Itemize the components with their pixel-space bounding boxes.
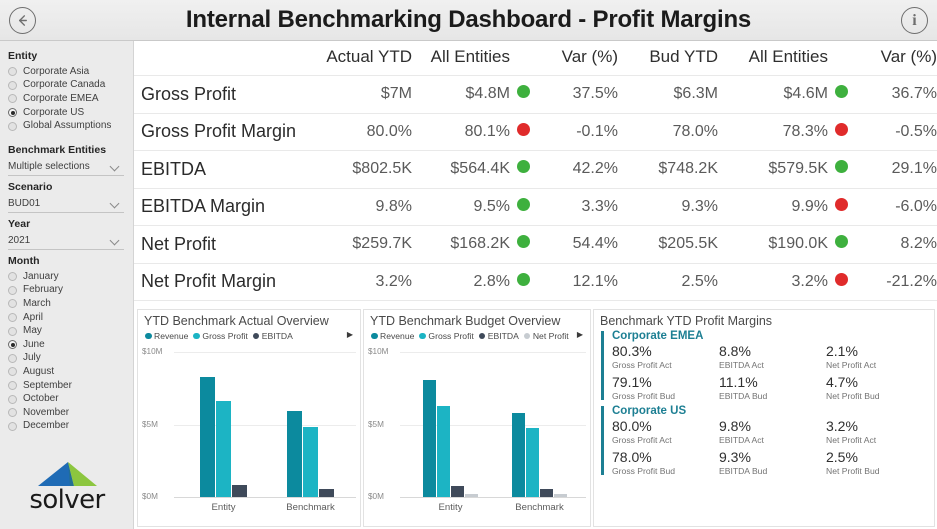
margins-metric-cell: 9.8%EBITDA Act [719,418,826,446]
radio-button-icon[interactable] [8,67,17,76]
cell-bud-ytd: $748.2K [618,151,718,189]
cell-bud-status [828,76,854,114]
radio-button-icon[interactable] [8,272,17,281]
radio-label: May [23,325,42,337]
legend-swatch-icon [371,333,378,340]
benchmark-profit-margins-panel: Benchmark YTD Profit Margins Corporate E… [593,309,935,527]
radio-button-icon[interactable] [8,381,17,390]
legend-swatch-icon [145,333,152,340]
title-bar: Internal Benchmarking Dashboard - Profit… [0,0,937,41]
margins-metric-caption: Net Profit Bud [826,465,933,477]
margins-metric-caption: EBITDA Act [719,434,826,446]
bar-entity-revenue[interactable] [423,380,436,497]
radio-label: February [23,284,63,296]
cell-actual-ytd: 80.0% [320,113,412,151]
margins-group-name: Corporate US [612,405,934,417]
entity-option-global-assumptions[interactable]: Global Assumptions [8,119,133,133]
cell-actual-ytd: $7M [320,76,412,114]
bar-entity-ebitda[interactable] [232,485,247,497]
cell-actual-all-entities: $564.4K [412,151,510,189]
table-row: EBITDA Margin9.8%9.5%3.3%9.3%9.9%-6.0% [134,188,937,226]
cell-bud-all-entities: $190.0K [718,226,828,264]
cell-bud-var: -6.0% [854,188,937,226]
page-title: Internal Benchmarking Dashboard - Profit… [186,6,751,34]
radio-label: November [23,407,69,419]
margins-metric-value: 79.1% [612,374,719,390]
info-icon[interactable]: i [901,7,928,34]
margins-metric-caption: Net Profit Act [826,434,933,446]
radio-label: January [23,271,59,283]
benchmark-entities-dropdown[interactable]: Multiple selections [8,159,124,176]
col-header-blank [134,41,320,76]
radio-label: Global Assumptions [23,120,111,132]
month-option-november[interactable]: November [8,406,133,420]
radio-label: September [23,380,72,392]
margins-metric-value: 9.8% [719,418,826,434]
kpi-table-body: Gross Profit$7M$4.8M37.5%$6.3M$4.6M36.7%… [134,76,937,301]
ytd-benchmark-actual-panel: YTD Benchmark Actual Overview RevenueGro… [137,309,361,527]
x-axis-line [174,497,356,498]
gridline [174,352,356,353]
chevron-down-icon [111,162,120,171]
margins-group: Corporate EMEA80.3%Gross Profit Act8.8%E… [601,330,934,402]
legend-item-revenue[interactable]: Revenue [371,331,414,341]
cell-bud-status [828,188,854,226]
month-section-label: Month [8,255,133,267]
radio-button-icon[interactable] [8,94,17,103]
radio-label: October [23,393,59,405]
x-axis-category-label: Benchmark [495,502,584,513]
margins-metric-caption: EBITDA Act [719,359,826,371]
margins-panel-title: Benchmark YTD Profit Margins [594,310,934,329]
table-row: Net Profit Margin3.2%2.8%12.1%2.5%3.2%-2… [134,263,937,301]
y-axis-tick-label: $0M [142,492,158,501]
status-indicator-dot-green [517,85,530,98]
month-option-april[interactable]: April [8,311,133,325]
cell-actual-ytd: 9.8% [320,188,412,226]
status-indicator-dot-green [517,235,530,248]
entity-option-corporate-us[interactable]: Corporate US [8,106,133,120]
margins-metric-caption: Gross Profit Act [612,434,719,446]
cell-actual-status [510,263,536,301]
legend-swatch-icon [253,333,260,340]
margins-groups: Corporate EMEA80.3%Gross Profit Act8.8%E… [594,330,934,477]
legend-swatch-icon [524,333,531,340]
cell-actual-var: 42.2% [536,151,618,189]
benchmark-entities-value: Multiple selections [8,161,90,172]
bar-entity-gross-profit[interactable] [216,401,231,497]
entity-option-corporate-emea[interactable]: Corporate EMEA [8,92,133,106]
radio-button-icon[interactable] [8,408,17,417]
radio-button-icon[interactable] [8,340,17,349]
radio-button-icon[interactable] [8,286,17,295]
budget-chart-legend: RevenueGross ProfitEBITDANet Profit▶ [364,329,590,341]
margins-metric-caption: Gross Profit Bud [612,465,719,477]
col-header-status-actual [510,41,536,76]
margins-metric-value: 3.2% [826,418,933,434]
radio-button-icon[interactable] [8,313,17,322]
cell-actual-var: 12.1% [536,263,618,301]
chevron-down-icon [111,236,120,245]
margins-row: 80.3%Gross Profit Act8.8%EBITDA Act2.1%N… [612,343,934,371]
cell-bud-ytd: $6.3M [618,76,718,114]
legend-overflow-arrow-icon[interactable]: ▶ [347,330,353,339]
legend-label: Gross Profit [428,331,473,341]
gridline [400,352,586,353]
legend-item-ebitda[interactable]: EBITDA [479,331,519,341]
cell-actual-status [510,151,536,189]
margins-metric-caption: Net Profit Bud [826,390,933,402]
legend-label: EBITDA [488,331,519,341]
margins-metric-cell: 8.8%EBITDA Act [719,343,826,371]
radio-button-icon[interactable] [8,367,17,376]
cell-actual-ytd: $259.7K [320,226,412,264]
y-axis-tick-label: $10M [142,347,162,356]
cell-actual-all-entities: 80.1% [412,113,510,151]
margins-metric-value: 9.3% [719,449,826,465]
bar-entity-revenue[interactable] [200,377,215,497]
solver-logo-text: solver [29,485,104,515]
month-option-march[interactable]: March [8,297,133,311]
bar-benchmark-net-profit[interactable] [554,494,567,497]
solver-mountain-logo-icon [34,460,100,487]
y-axis-tick-label: $10M [368,347,388,356]
year-dropdown[interactable]: 2021 [8,233,124,250]
cell-bud-var: -21.2% [854,263,937,301]
cell-actual-status [510,76,536,114]
cell-bud-status [828,113,854,151]
margins-metric-cell: 2.5%Net Profit Bud [826,449,933,477]
status-indicator-dot-red [835,198,848,211]
actual-chart-title: YTD Benchmark Actual Overview [138,310,360,329]
cell-actual-var: 37.5% [536,76,618,114]
table-row: Gross Profit Margin80.0%80.1%-0.1%78.0%7… [134,113,937,151]
month-option-may[interactable]: May [8,324,133,338]
col-header-actual-ytd: Actual YTD [320,41,412,76]
month-option-october[interactable]: October [8,392,133,406]
year-value: 2021 [8,235,30,246]
bar-benchmark-ebitda[interactable] [319,489,334,497]
cell-bud-var: 36.7% [854,76,937,114]
legend-label: Revenue [154,331,188,341]
margins-row: 79.1%Gross Profit Bud11.1%EBITDA Bud4.7%… [612,374,934,402]
x-axis-line [400,497,586,498]
radio-label: Corporate Canada [23,79,105,91]
status-indicator-dot-green [517,273,530,286]
legend-swatch-icon [193,333,200,340]
entity-section-label: Entity [8,50,133,62]
legend-overflow-arrow-icon[interactable]: ▶ [577,330,583,339]
margins-metric-cell: 79.1%Gross Profit Bud [612,374,719,402]
margins-metric-value: 4.7% [826,374,933,390]
margins-metric-value: 78.0% [612,449,719,465]
radio-label: August [23,366,54,378]
legend-item-net-profit[interactable]: Net Profit [524,331,569,341]
row-label: Gross Profit Margin [134,113,320,151]
legend-label: EBITDA [262,331,293,341]
radio-button-icon[interactable] [8,422,17,431]
status-indicator-dot-green [835,235,848,248]
margins-row: 78.0%Gross Profit Bud9.3%EBITDA Bud2.5%N… [612,449,934,477]
row-label: Net Profit [134,226,320,264]
margins-metric-caption: Gross Profit Act [612,359,719,371]
status-indicator-dot-red [835,123,848,136]
col-header-var-bud: Var (%) [854,41,937,76]
legend-item-gross-profit[interactable]: Gross Profit [193,331,247,341]
radio-button-icon[interactable] [8,122,17,131]
bar-benchmark-gross-profit[interactable] [526,428,539,497]
status-indicator-dot-green [517,198,530,211]
col-header-status-bud [828,41,854,76]
x-axis-category-label: Entity [406,502,495,513]
cell-bud-status [828,226,854,264]
cell-bud-var: -0.5% [854,113,937,151]
radio-label: June [23,339,45,351]
margins-metric-cell: 80.0%Gross Profit Act [612,418,719,446]
cell-actual-var: 3.3% [536,188,618,226]
spacer [8,133,133,142]
margins-metric-caption: Net Profit Act [826,359,933,371]
margins-metric-cell: 80.3%Gross Profit Act [612,343,719,371]
table-row: Net Profit$259.7K$168.2K54.4%$205.5K$190… [134,226,937,264]
cell-actual-status [510,188,536,226]
bar-benchmark-revenue[interactable] [287,411,302,497]
bar-entity-net-profit[interactable] [465,494,478,497]
cell-bud-ytd: $205.5K [618,226,718,264]
radio-label: Corporate US [23,107,84,119]
scenario-value: BUD01 [8,198,40,209]
ytd-benchmark-budget-panel: YTD Benchmark Budget Overview RevenueGro… [363,309,591,527]
margins-metric-value: 2.1% [826,343,933,359]
y-axis-tick-label: $5M [368,420,384,429]
radio-button-icon[interactable] [8,327,17,336]
bar-benchmark-ebitda[interactable] [540,489,553,497]
table-row: EBITDA$802.5K$564.4K42.2%$748.2K$579.5K2… [134,151,937,189]
cell-actual-status [510,113,536,151]
y-axis-tick-label: $0M [368,492,384,501]
bar-entity-ebitda[interactable] [451,486,464,497]
margins-group: Corporate US80.0%Gross Profit Act9.8%EBI… [601,405,934,477]
cell-bud-all-entities: $4.6M [718,76,828,114]
margins-metric-cell: 78.0%Gross Profit Bud [612,449,719,477]
radio-button-icon[interactable] [8,354,17,363]
budget-bar-chart: $0M$5M$10MEntityBenchmark [364,346,590,516]
y-axis-tick-label: $5M [142,420,158,429]
benchmark-entities-label: Benchmark Entities [8,144,133,156]
legend-label: Net Profit [533,331,569,341]
radio-label: March [23,298,51,310]
margins-group-name: Corporate EMEA [612,330,934,342]
cell-bud-all-entities: 78.3% [718,113,828,151]
margins-metric-value: 80.0% [612,418,719,434]
month-option-february[interactable]: February [8,284,133,298]
cell-bud-ytd: 78.0% [618,113,718,151]
cell-bud-ytd: 2.5% [618,263,718,301]
cell-actual-status [510,226,536,264]
cell-actual-all-entities: 9.5% [412,188,510,226]
legend-label: Gross Profit [202,331,247,341]
actual-bar-chart: $0M$5M$10MEntityBenchmark [138,346,360,516]
entity-option-corporate-asia[interactable]: Corporate Asia [8,65,133,79]
col-header-all-entities-actual: All Entities [412,41,510,76]
radio-label: April [23,312,43,324]
legend-swatch-icon [419,333,426,340]
radio-button-icon[interactable] [8,395,17,404]
back-arrow-glyph [15,13,30,28]
row-label: Gross Profit [134,76,320,114]
radio-button-icon[interactable] [8,299,17,308]
cell-bud-all-entities: 9.9% [718,188,828,226]
col-header-bud-ytd: Bud YTD [618,41,718,76]
col-header-all-entities-bud: All Entities [718,41,828,76]
cell-actual-ytd: $802.5K [320,151,412,189]
margins-metric-cell: 4.7%Net Profit Bud [826,374,933,402]
solver-logo: solver [0,460,134,515]
entity-option-corporate-canada[interactable]: Corporate Canada [8,79,133,93]
radio-label: Corporate EMEA [23,93,99,105]
margins-metric-caption: EBITDA Bud [719,390,826,402]
month-option-june[interactable]: June [8,338,133,352]
cell-actual-ytd: 3.2% [320,263,412,301]
radio-button-icon[interactable] [8,108,17,117]
row-label: EBITDA [134,151,320,189]
status-indicator-dot-red [517,123,530,136]
radio-label: December [23,420,69,432]
legend-item-revenue[interactable]: Revenue [145,331,188,341]
cell-bud-all-entities: 3.2% [718,263,828,301]
status-indicator-dot-green [517,160,530,173]
status-indicator-dot-green [835,160,848,173]
margins-metric-cell: 11.1%EBITDA Bud [719,374,826,402]
cell-actual-all-entities: 2.8% [412,263,510,301]
month-option-july[interactable]: July [8,352,133,366]
margins-metric-value: 80.3% [612,343,719,359]
budget-chart-title: YTD Benchmark Budget Overview [364,310,590,329]
back-arrow-icon[interactable] [9,7,36,34]
cell-actual-all-entities: $4.8M [412,76,510,114]
scenario-label: Scenario [8,181,133,193]
table-row: Gross Profit$7M$4.8M37.5%$6.3M$4.6M36.7% [134,76,937,114]
status-indicator-dot-red [835,273,848,286]
cell-bud-status [828,151,854,189]
bar-entity-gross-profit[interactable] [437,406,450,497]
month-option-january[interactable]: January [8,270,133,284]
radio-button-icon[interactable] [8,81,17,90]
margins-metric-cell: 9.3%EBITDA Bud [719,449,826,477]
legend-item-gross-profit[interactable]: Gross Profit [419,331,473,341]
x-axis-category-label: Entity [180,502,267,513]
group-accent-bar [601,406,604,475]
year-label: Year [8,218,133,230]
month-option-december[interactable]: December [8,420,133,434]
scenario-dropdown[interactable]: BUD01 [8,196,124,213]
bar-benchmark-gross-profit[interactable] [303,427,318,497]
month-option-august[interactable]: August [8,365,133,379]
margins-metric-caption: EBITDA Bud [719,465,826,477]
month-option-september[interactable]: September [8,379,133,393]
cell-bud-var: 29.1% [854,151,937,189]
kpi-table-area: Actual YTD All Entities Var (%) Bud YTD … [134,41,937,305]
margins-row: 80.0%Gross Profit Act9.8%EBITDA Act3.2%N… [612,418,934,446]
row-label: Net Profit Margin [134,263,320,301]
margins-metric-cell: 2.1%Net Profit Act [826,343,933,371]
table-header-row: Actual YTD All Entities Var (%) Bud YTD … [134,41,937,76]
margins-metric-value: 11.1% [719,374,826,390]
margins-metric-value: 2.5% [826,449,933,465]
cell-bud-all-entities: $579.5K [718,151,828,189]
chevron-down-icon [111,199,120,208]
margins-metric-cell: 3.2%Net Profit Act [826,418,933,446]
legend-label: Revenue [380,331,414,341]
row-label: EBITDA Margin [134,188,320,226]
legend-swatch-icon [479,333,486,340]
col-header-var-actual: Var (%) [536,41,618,76]
cell-actual-all-entities: $168.2K [412,226,510,264]
cell-bud-ytd: 9.3% [618,188,718,226]
radio-label: Corporate Asia [23,66,89,78]
actual-chart-legend: RevenueGross ProfitEBITDA▶ [138,329,360,341]
legend-item-ebitda[interactable]: EBITDA [253,331,293,341]
margins-metric-caption: Gross Profit Bud [612,390,719,402]
cell-bud-status [828,263,854,301]
kpi-table: Actual YTD All Entities Var (%) Bud YTD … [134,41,937,301]
dashboard-root: Internal Benchmarking Dashboard - Profit… [0,0,937,529]
bar-benchmark-revenue[interactable] [512,413,525,497]
group-accent-bar [601,331,604,400]
x-axis-category-label: Benchmark [267,502,354,513]
cell-actual-var: -0.1% [536,113,618,151]
filter-sidebar: Entity Corporate AsiaCorporate CanadaCor… [0,41,134,529]
cell-bud-var: 8.2% [854,226,937,264]
margins-metric-value: 8.8% [719,343,826,359]
month-radio-group: JanuaryFebruaryMarchAprilMayJuneJulyAugu… [8,270,133,433]
status-indicator-dot-green [835,85,848,98]
entity-radio-group: Corporate AsiaCorporate CanadaCorporate … [8,65,133,133]
radio-label: July [23,352,41,364]
cell-actual-var: 54.4% [536,226,618,264]
